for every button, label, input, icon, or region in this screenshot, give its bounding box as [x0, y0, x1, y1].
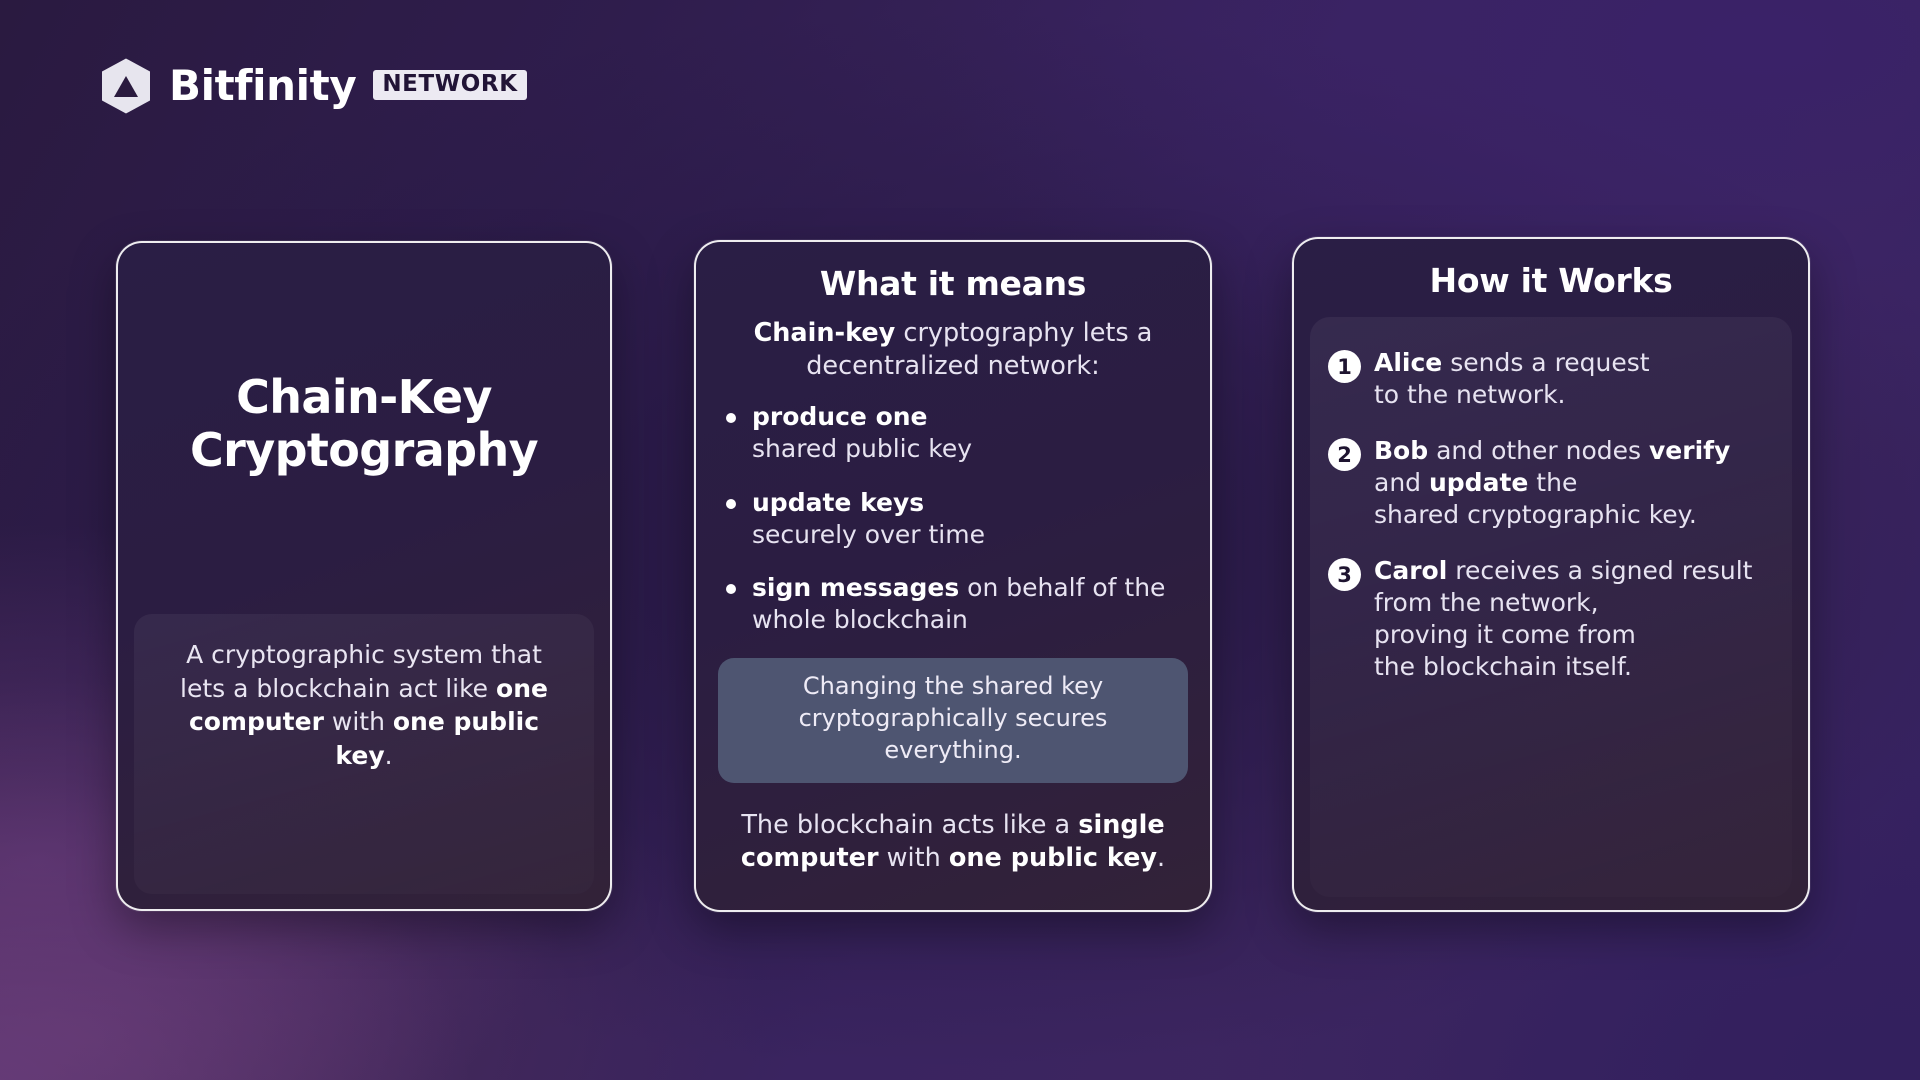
card-3-step-list: 1Alice sends a requestto the network.2Bo…: [1328, 347, 1772, 683]
card-what-it-means: What it means Chain-key cryptography let…: [694, 240, 1212, 912]
step-number-badge: 3: [1328, 558, 1361, 591]
step-text: Bob and other nodes verifyand update the…: [1374, 435, 1730, 531]
step-text: Alice sends a requestto the network.: [1374, 347, 1650, 411]
card-chain-key-cryptography: Chain-Key Cryptography A cryptographic s…: [116, 241, 612, 911]
brand-logo[interactable]: Bitfinity NETWORK: [98, 56, 527, 116]
brand-name: Bitfinity: [169, 65, 356, 107]
list-item: sign messages on behalf of the whole blo…: [724, 572, 1210, 636]
card-1-title-line-2: Cryptography: [190, 423, 538, 477]
card-2-lead: Chain-key cryptography lets a decentrali…: [696, 303, 1210, 383]
step-item: 2Bob and other nodes verifyand update th…: [1328, 435, 1772, 531]
card-2-bullet-list: produce oneshared public keyupdate keyss…: [696, 401, 1210, 636]
card-2-heading: What it means: [696, 242, 1210, 303]
card-2-footnote: The blockchain acts like a single comput…: [696, 783, 1210, 876]
card-1-title: Chain-Key Cryptography: [118, 371, 610, 478]
step-number-badge: 1: [1328, 350, 1361, 383]
step-item: 3Carol receives a signed resultfrom the …: [1328, 555, 1772, 683]
step-number-badge: 2: [1328, 438, 1361, 471]
card-1-description-panel: A cryptographic system that lets a block…: [134, 614, 594, 894]
step-item: 1Alice sends a requestto the network.: [1328, 347, 1772, 411]
card-2-highlight-box: Changing the shared key cryptographicall…: [718, 658, 1188, 783]
card-how-it-works: How it Works 1Alice sends a requestto th…: [1292, 237, 1810, 912]
card-3-heading: How it Works: [1294, 239, 1808, 300]
brand-badge: NETWORK: [373, 70, 526, 100]
step-text: Carol receives a signed resultfrom the n…: [1374, 555, 1752, 683]
card-1-description: A cryptographic system that lets a block…: [160, 638, 568, 772]
card-3-steps-panel: 1Alice sends a requestto the network.2Bo…: [1310, 317, 1792, 897]
list-item: update keyssecurely over time: [724, 487, 1210, 551]
list-item: produce oneshared public key: [724, 401, 1210, 465]
card-1-title-line-1: Chain-Key: [236, 370, 492, 424]
hexagon-triangle-icon: [98, 56, 154, 116]
